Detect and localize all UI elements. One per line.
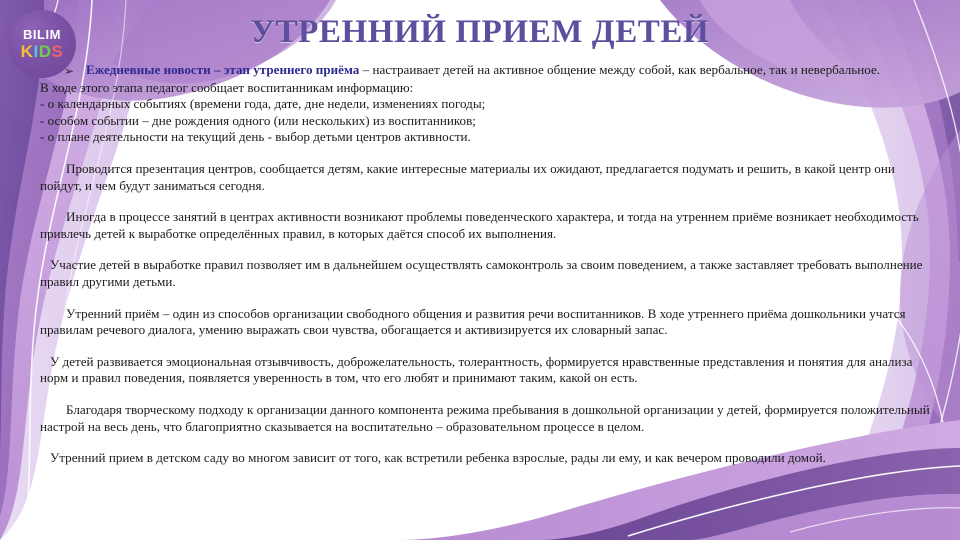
paragraph: Участие детей в выработке правил позволя… (40, 257, 930, 290)
bullet-item: ➢ Ежедневные новости – этап утреннего пр… (40, 62, 930, 79)
list-item: - особом событии – дне рождения одного (… (40, 113, 930, 130)
paragraph: Утренний прием в детском саду во многом … (40, 450, 930, 467)
paragraph: Утренний приём – один из способов органи… (40, 306, 930, 339)
paragraph: Проводится презентация центров, сообщает… (40, 161, 930, 194)
list-item: - о плане деятельности на текущий день -… (40, 129, 930, 146)
slide-body: ➢ Ежедневные новости – этап утреннего пр… (40, 62, 930, 469)
bullet-rest-text: – настраивает детей на активное общение … (359, 62, 880, 77)
bg-bottom-white-arc-2 (790, 508, 960, 532)
paragraph: Иногда в процессе занятий в центрах акти… (40, 209, 930, 242)
bullet-lead-text: Ежедневные новости – этап утреннего приё… (86, 62, 359, 77)
intro-line: В ходе этого этапа педагог сообщает восп… (40, 80, 930, 97)
bilim-kids-logo: BILIM KIDS (8, 10, 76, 78)
slide-canvas: BILIM KIDS УТРЕННИЙ ПРИЕМ ДЕТЕЙ ➢ Ежедне… (0, 0, 960, 540)
logo-text-bilim: BILIM (23, 28, 61, 41)
page-title: УТРЕННИЙ ПРИЕМ ДЕТЕЙ (0, 14, 960, 51)
paragraph: У детей развивается эмоциональная отзывч… (40, 354, 930, 387)
list-item: - о календарных событиях (времени года, … (40, 96, 930, 113)
paragraph: Благодаря творческому подходу к организа… (40, 402, 930, 435)
logo-text-kids: KIDS (21, 43, 64, 60)
bg-bottom-pale-sweep (690, 494, 960, 540)
bg-bottom-white-arc-1 (628, 466, 960, 536)
